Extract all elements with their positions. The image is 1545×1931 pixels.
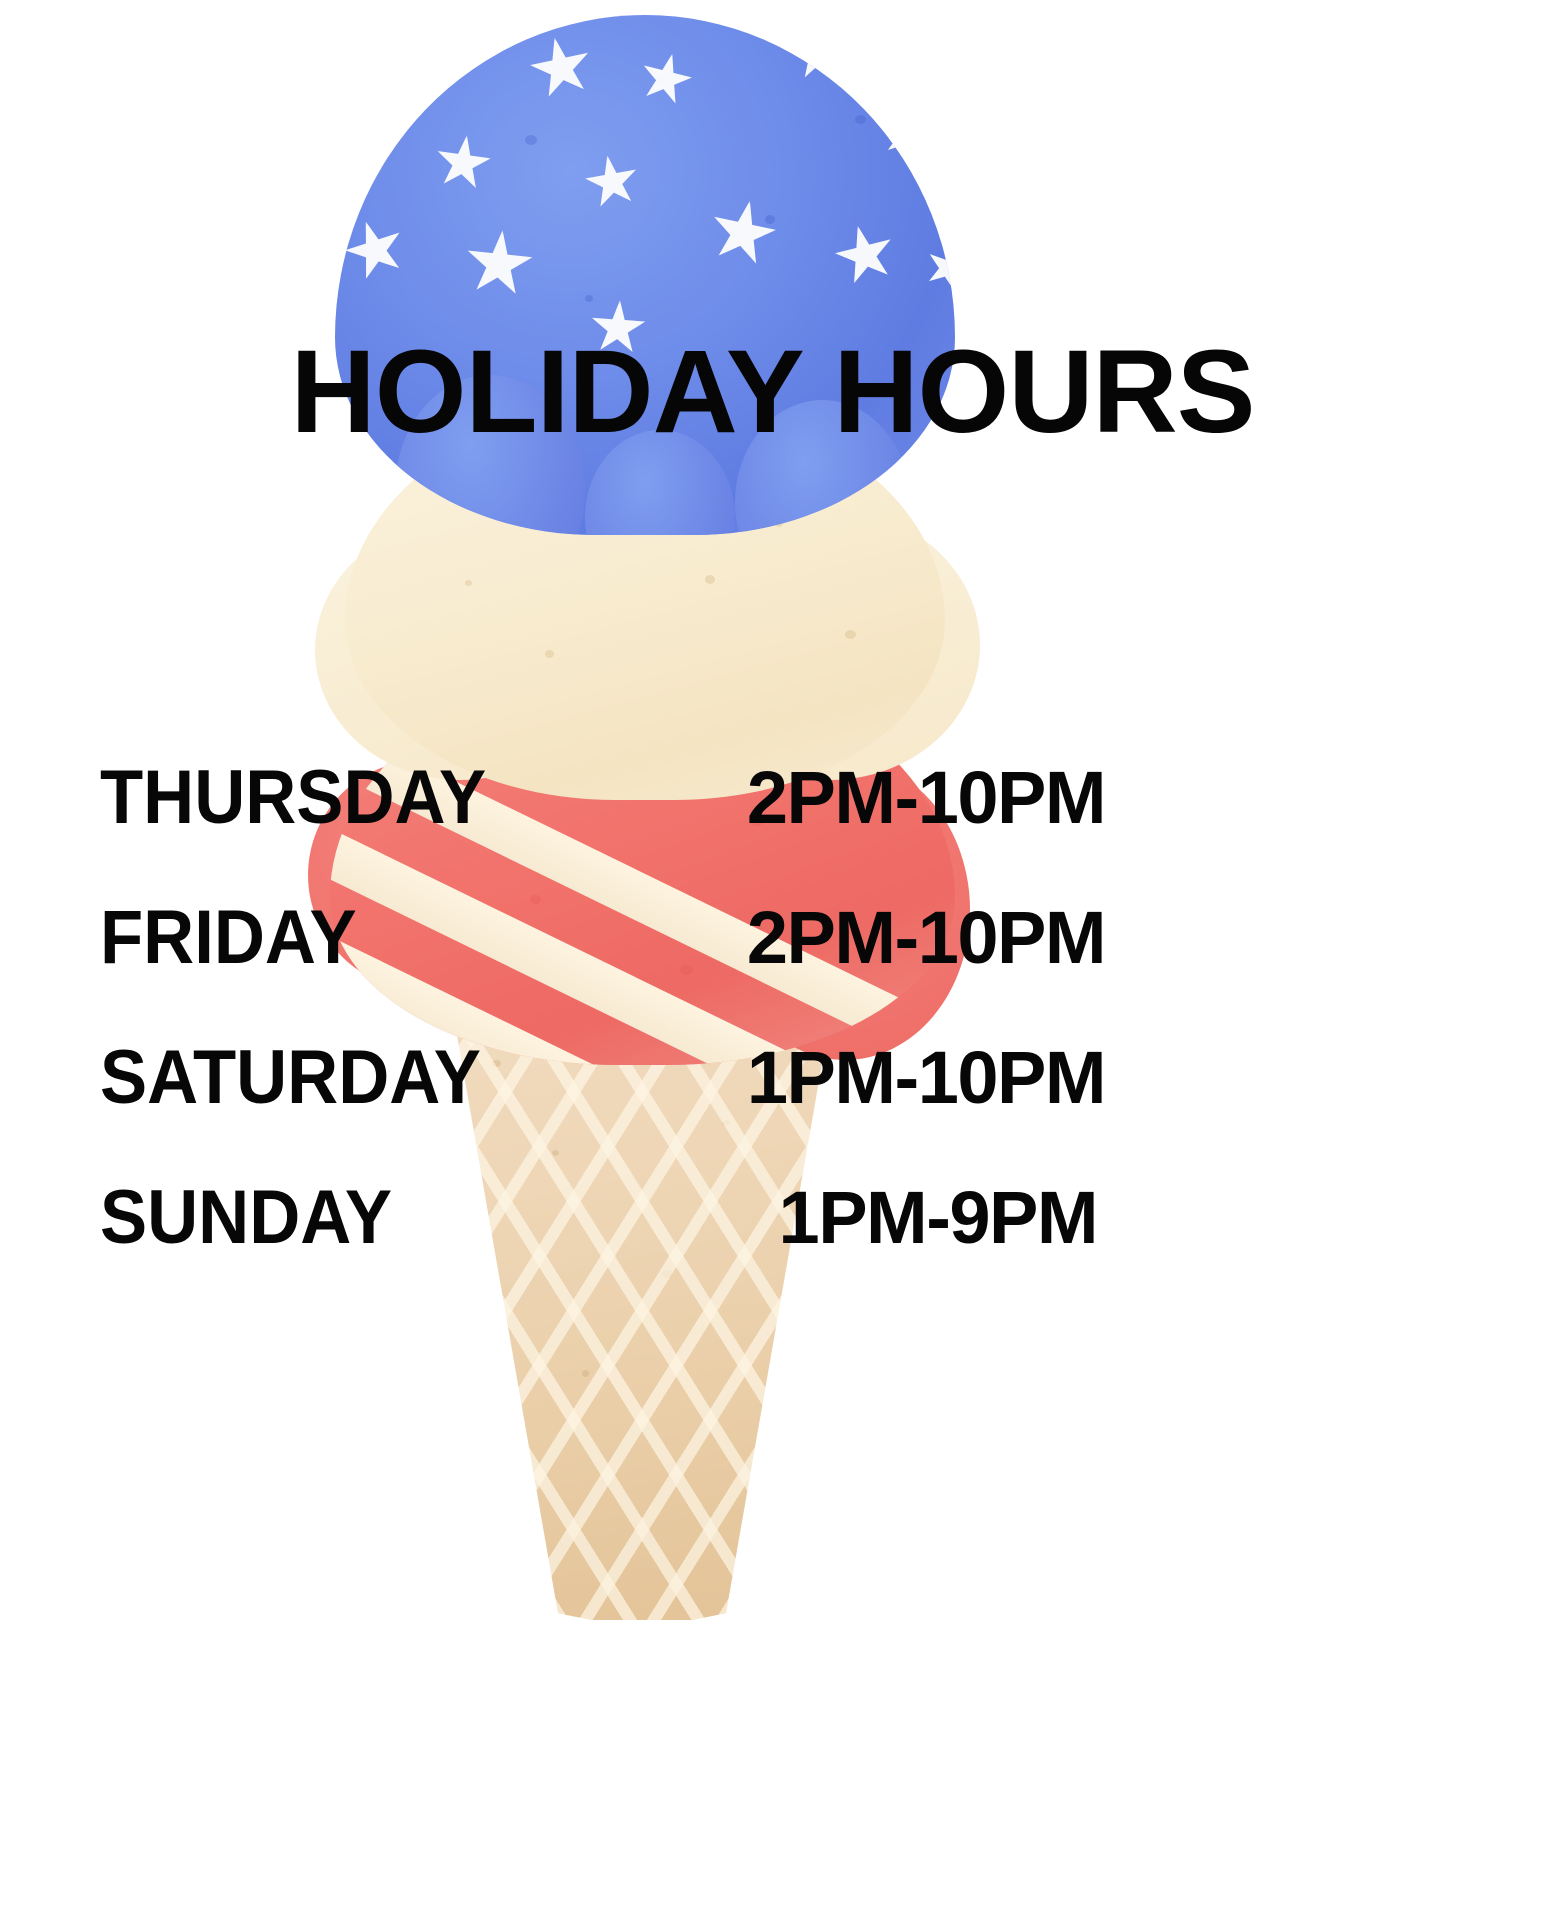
- hours-value: 2PM-10PM: [747, 761, 1105, 835]
- schedule-row: SATURDAY 1PM-10PM: [100, 1040, 1115, 1180]
- star-icon: [581, 151, 644, 214]
- hours-value: 1PM-9PM: [779, 1181, 1097, 1255]
- day-label: THURSDAY: [100, 760, 486, 836]
- schedule-row: THURSDAY 2PM-10PM: [100, 760, 1115, 900]
- hours-value: 1PM-10PM: [747, 1041, 1105, 1115]
- star-icon: [431, 131, 494, 194]
- day-label: SUNDAY: [100, 1180, 392, 1256]
- star-icon: [787, 20, 851, 84]
- day-label: SATURDAY: [100, 1040, 481, 1116]
- star-icon: [462, 227, 537, 302]
- star-icon: [876, 103, 939, 166]
- hours-value: 2PM-10PM: [747, 901, 1105, 975]
- star-icon: [829, 219, 902, 292]
- holiday-hours-poster: HOLIDAY HOURS THURSDAY 2PM-10PM FRIDAY 2…: [0, 0, 1545, 1931]
- star-icon: [524, 31, 598, 105]
- hours-schedule: THURSDAY 2PM-10PM FRIDAY 2PM-10PM SATURD…: [100, 760, 1115, 1320]
- schedule-row: FRIDAY 2PM-10PM: [100, 900, 1115, 1040]
- star-icon: [919, 239, 955, 298]
- page-title: HOLIDAY HOURS: [0, 333, 1545, 451]
- star-icon: [634, 47, 697, 110]
- star-icon: [337, 212, 413, 288]
- schedule-row: SUNDAY 1PM-9PM: [100, 1180, 1115, 1320]
- star-icon: [704, 194, 782, 272]
- day-label: FRIDAY: [100, 900, 357, 976]
